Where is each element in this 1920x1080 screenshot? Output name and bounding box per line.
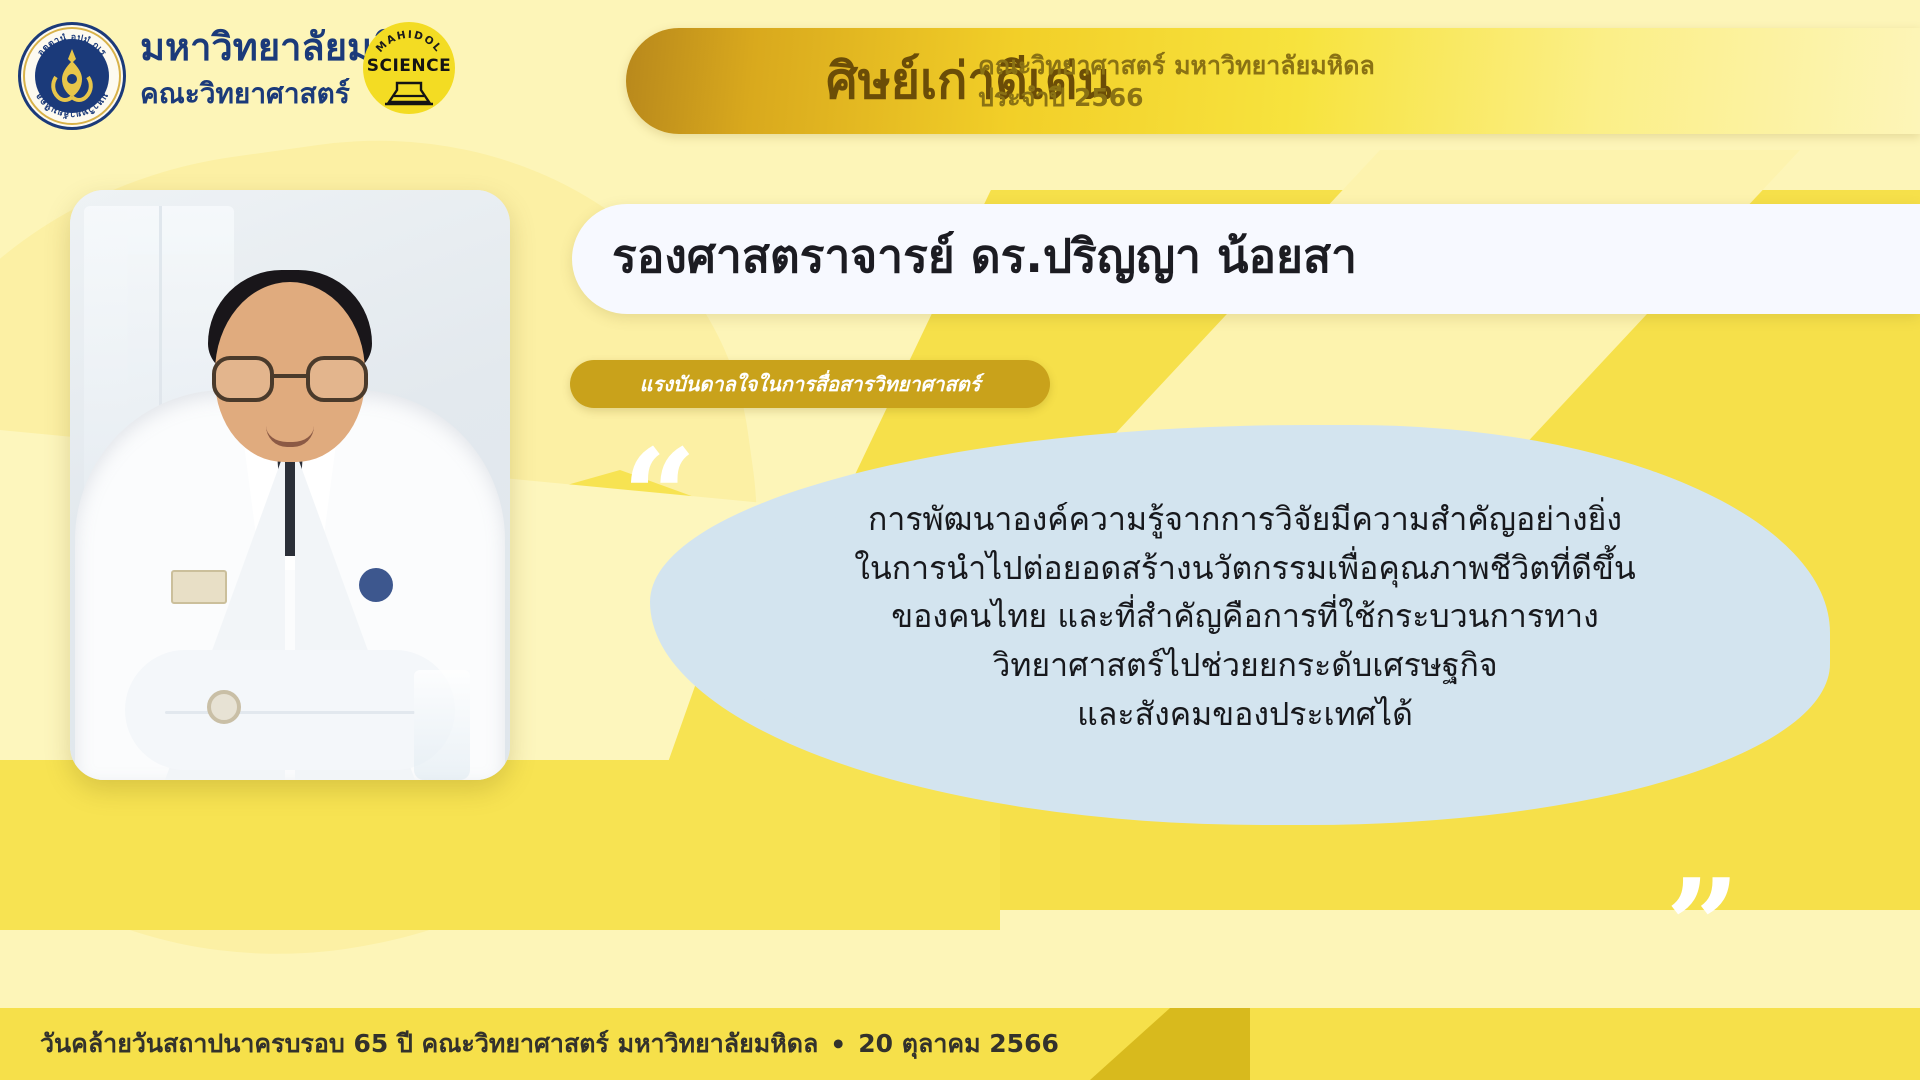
poster-canvas: อตฺตานํ อุปมํ กเร มหาวิทยาลัยมหิดล มหาวิ… [0,0,1920,1080]
header-logo-row: อตฺตานํ อุปมํ กเร มหาวิทยาลัยมหิดล มหาวิ… [0,0,640,150]
footer-text: วันคล้ายวันสถาปนาครบรอบ 65 ปี คณะวิทยาศา… [40,1008,1059,1080]
faculty-name: คณะวิทยาศาสตร์ [140,80,350,108]
quote-line: วิทยาศาสตร์ไปช่วยยกระดับเศรษฐกิจ [700,641,1790,690]
quote-line: การพัฒนาองค์ความรู้จากการวิจัยมีความสำคั… [700,495,1790,544]
footer-event: วันคล้ายวันสถาปนาครบรอบ 65 ปี คณะวิทยาศา… [40,1024,818,1064]
science-badge-arc-text: MAHIDOL [374,29,445,55]
alumni-name: รองศาสตราจารย์ ดร.ปริญญา น้อยสา [612,233,1872,279]
footer-date: 20 ตุลาคม 2566 [858,1024,1059,1064]
quote-line: ในการนำไปต่อยอดสร้างนวัตกรรมเพื่อคุณภาพช… [700,544,1790,593]
title-sub-text: คณะวิทยาศาสตร์ มหาวิทยาลัยมหิดล ประจำปี … [978,50,1375,114]
title-banner: ศิษย์เก่าดีเด่น คณะวิทยาศาสตร์ มหาวิทยาล… [626,28,1920,134]
science-badge-main-text: SCIENCE [363,56,455,76]
mahidol-university-seal-icon: อตฺตานํ อุปมํ กเร มหาวิทยาลัยมหิดล [18,22,126,130]
quote-close-mark-icon: ” [1665,862,1740,992]
quote-line: และสังคมของประเทศได้ [700,690,1790,739]
portrait-photo [70,190,510,780]
footer-right-panel [1250,1008,1920,1080]
svg-text:MAHIDOL: MAHIDOL [374,29,445,55]
quote-line: ของคนไทย และที่สำคัญคือการที่ใช้กระบวนกา… [700,592,1790,641]
quote-open-mark-icon: “ [622,432,697,562]
title-sub-line-2: ประจำปี 2566 [978,82,1375,114]
subtitle-label: แรงบันดาลใจในการสื่อสารวิทยาศาสตร์ [570,360,1050,408]
quote-text: การพัฒนาองค์ความรู้จากการวิจัยมีความสำคั… [700,495,1790,738]
flask-icon [383,80,435,106]
mahidol-science-badge-icon: MAHIDOL SCIENCE [363,22,455,114]
title-sub-line-1: คณะวิทยาศาสตร์ มหาวิทยาลัยมหิดล [978,50,1375,82]
footer-separator: • [830,1030,846,1059]
